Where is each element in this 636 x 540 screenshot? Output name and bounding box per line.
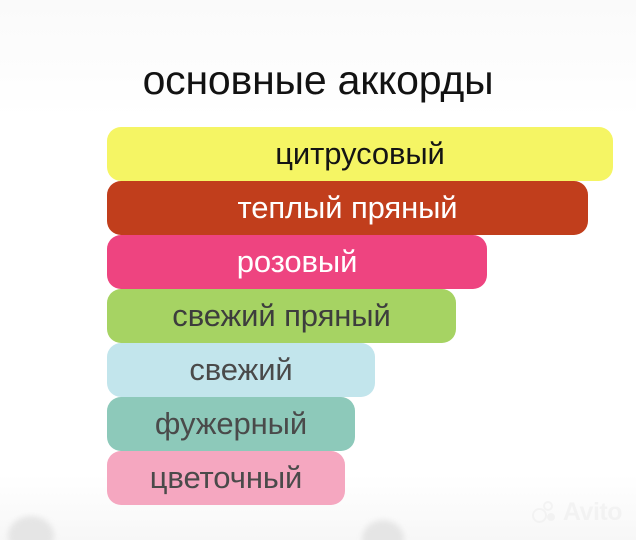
avito-watermark: Avito [532,500,622,525]
bar-row: теплый пряный [0,181,636,235]
bar-row: цитрусовый [0,127,636,181]
bar-segment[interactable]: свежий пряный [107,289,456,343]
chart-canvas: основные аккорды цитрусовыйтеплый пряный… [0,0,636,540]
watermark-label: Avito [563,500,622,525]
bar-label: теплый пряный [223,191,471,225]
bar-label: розовый [223,245,372,279]
bar-segment[interactable]: фужерный [107,397,355,451]
bar-label: цитрусовый [261,137,458,171]
bar-label: свежий [175,353,306,387]
bar-label: цветочный [136,461,316,495]
bar-segment[interactable]: свежий [107,343,375,397]
bar-segment[interactable]: цитрусовый [107,127,613,181]
bar-chart: цитрусовыйтеплый пряныйрозовыйсвежий пря… [0,127,636,505]
avito-dots-icon [532,501,558,525]
bar-label: фужерный [141,407,321,441]
bar-row: фужерный [0,397,636,451]
bar-row: свежий пряный [0,289,636,343]
bar-label: свежий пряный [158,299,404,333]
page-title: основные аккорды [0,55,636,105]
bar-row: цветочный [0,451,636,505]
bar-segment[interactable]: теплый пряный [107,181,588,235]
bar-segment[interactable]: розовый [107,235,487,289]
bar-row: свежий [0,343,636,397]
bar-row: розовый [0,235,636,289]
bar-segment[interactable]: цветочный [107,451,345,505]
